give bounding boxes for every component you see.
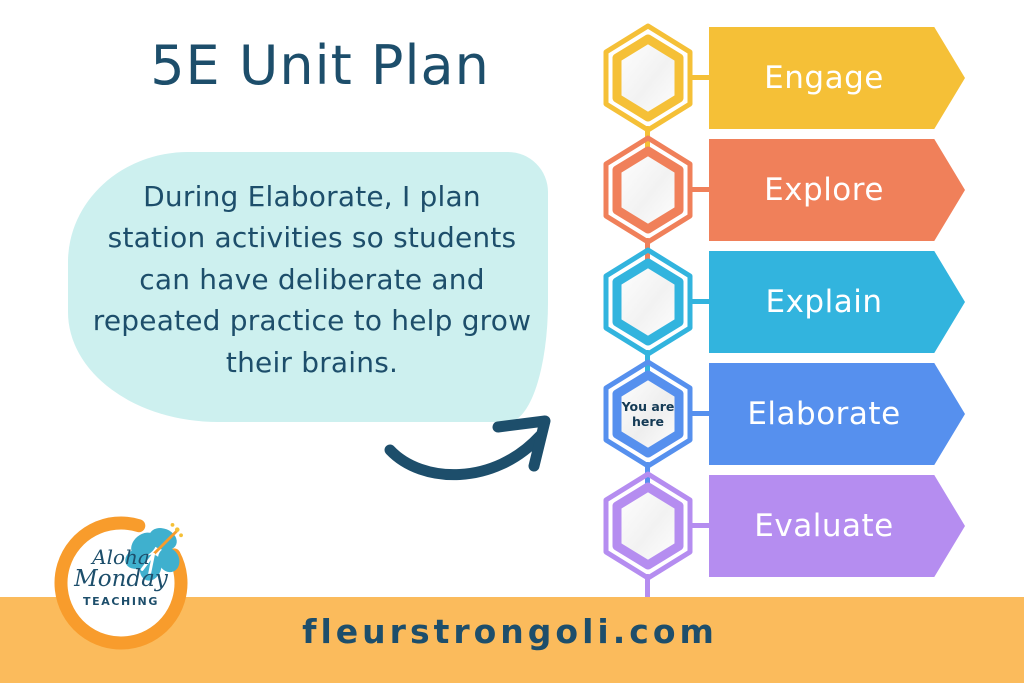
step-banner-evaluate[interactable]: Evaluate bbox=[709, 475, 965, 577]
brand-logo[interactable]: Aloha Monday TEACHING bbox=[46, 505, 196, 655]
step-banner-elaborate[interactable]: Elaborate bbox=[709, 363, 965, 465]
step-row-explore[interactable]: Explore bbox=[596, 134, 996, 246]
hexagon-marker bbox=[600, 470, 696, 582]
logo-ring-and-flower-icon bbox=[46, 505, 196, 655]
five-e-step-chain: Engage Explore bbox=[596, 22, 996, 597]
step-row-elaborate[interactable]: You are here Elaborate bbox=[596, 358, 996, 470]
page-title: 5E Unit Plan bbox=[60, 36, 580, 95]
step-label: Evaluate bbox=[754, 508, 893, 544]
step-row-engage[interactable]: Engage bbox=[596, 22, 996, 134]
connector-line-horizontal bbox=[692, 299, 710, 304]
step-label: Explain bbox=[766, 284, 883, 320]
connector-line-horizontal bbox=[692, 75, 710, 80]
connector-line-horizontal bbox=[692, 187, 710, 192]
hexagon-marker bbox=[600, 246, 696, 358]
step-banner-explore[interactable]: Explore bbox=[709, 139, 965, 241]
step-label: Elaborate bbox=[747, 396, 900, 432]
callout-text: During Elaborate, I plan station activit… bbox=[92, 176, 532, 383]
hexagon-marker bbox=[600, 134, 696, 246]
step-row-evaluate[interactable]: Evaluate bbox=[596, 470, 996, 582]
step-label: Engage bbox=[764, 60, 884, 96]
infographic-poster: 5E Unit Plan During Elaborate, I plan st… bbox=[0, 0, 1024, 683]
step-label: Explore bbox=[764, 172, 884, 208]
connector-line-horizontal bbox=[692, 523, 710, 528]
step-row-explain[interactable]: Explain bbox=[596, 246, 996, 358]
hexagon-marker-current bbox=[600, 358, 696, 470]
step-banner-explain[interactable]: Explain bbox=[709, 251, 965, 353]
footer-website-url[interactable]: fleurstrongoli.com bbox=[180, 612, 840, 651]
connector-line-horizontal bbox=[692, 411, 710, 416]
curved-arrow-icon bbox=[382, 392, 602, 492]
hexagon-marker bbox=[600, 22, 696, 134]
step-banner-engage[interactable]: Engage bbox=[709, 27, 965, 129]
